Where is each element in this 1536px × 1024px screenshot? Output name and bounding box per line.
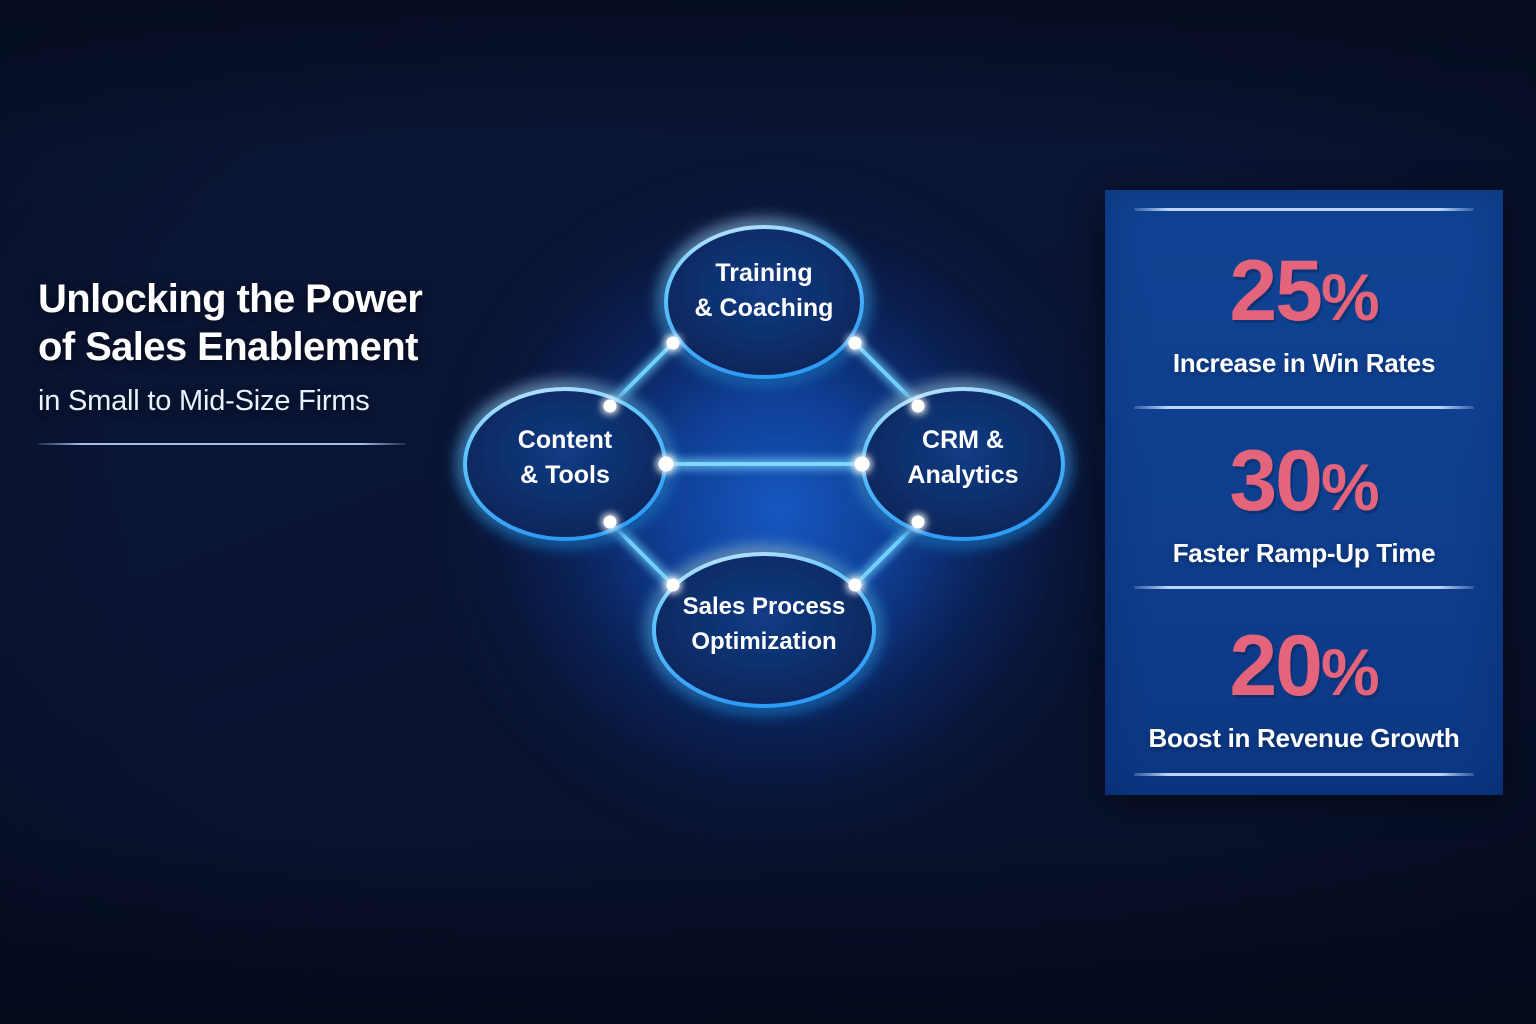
- stat-unit-revenue-growth: %: [1321, 635, 1379, 709]
- junction-dot-content-top: [604, 400, 617, 413]
- page-title-line-2: of Sales Enablement: [38, 323, 438, 371]
- node-content-label-2: & Tools: [520, 461, 610, 489]
- stat-item-revenue-growth: 20% Boost in Revenue Growth: [1105, 623, 1503, 753]
- key-results-panel: 25% Increase in Win Rates 30% Faster Ram…: [1105, 190, 1503, 795]
- node-training[interactable]: Training & Coaching: [666, 227, 862, 377]
- stat-value-revenue-growth: 20%: [1105, 623, 1503, 715]
- page-subtitle: in Small to Mid-Size Firms: [38, 381, 438, 421]
- panel-rule-bottom: [1134, 773, 1474, 776]
- sales-enablement-node-diagram: Training & Coaching Content & Tools CRM …: [430, 150, 1110, 770]
- stat-number-win-rates: 25: [1229, 243, 1321, 339]
- node-process[interactable]: Sales Process Optimization: [654, 554, 874, 706]
- stat-value-win-rates: 25%: [1105, 248, 1503, 340]
- node-process-label-1: Sales Process: [683, 593, 846, 620]
- junction-dot-training-right: [849, 337, 862, 350]
- stat-label-ramp-up: Faster Ramp-Up Time: [1105, 538, 1503, 568]
- junction-dot-process-left: [667, 579, 680, 592]
- node-crm[interactable]: CRM & Analytics: [863, 389, 1063, 539]
- node-crm-label-1: CRM &: [922, 426, 1004, 454]
- stat-item-ramp-up: 30% Faster Ramp-Up Time: [1105, 438, 1503, 568]
- panel-rule-top: [1134, 208, 1474, 211]
- connector-training-to-crm: [858, 346, 918, 406]
- node-content-label-1: Content: [518, 426, 613, 454]
- stat-item-win-rates: 25% Increase in Win Rates: [1105, 248, 1503, 378]
- stat-label-win-rates: Increase in Win Rates: [1105, 348, 1503, 378]
- node-process-label-2: Optimization: [691, 628, 836, 655]
- stat-value-ramp-up: 30%: [1105, 438, 1503, 530]
- panel-rule-2: [1134, 586, 1474, 589]
- node-content[interactable]: Content & Tools: [465, 389, 665, 539]
- junction-dot-training-left: [667, 337, 680, 350]
- stat-number-ramp-up: 30: [1229, 433, 1321, 529]
- page-title-line-1: Unlocking the Power: [38, 275, 438, 323]
- stat-label-revenue-growth: Boost in Revenue Growth: [1105, 723, 1503, 753]
- connector-process-to-crm: [858, 522, 918, 582]
- node-training-label-1: Training: [715, 259, 812, 287]
- title-divider-rule: [38, 443, 406, 445]
- junction-dot-crm-top: [912, 400, 925, 413]
- node-training-label-2: & Coaching: [695, 294, 834, 322]
- node-crm-label-2: Analytics: [907, 461, 1018, 489]
- junction-dot-crm-bottom: [912, 516, 925, 529]
- junction-dot-process-right: [849, 579, 862, 592]
- junction-dot-content-bottom: [604, 516, 617, 529]
- title-block: Unlocking the Power of Sales Enablement …: [38, 275, 438, 445]
- connector-content-to-process: [610, 522, 670, 582]
- junction-dot-center-left: [659, 457, 674, 472]
- stat-unit-win-rates: %: [1321, 260, 1379, 334]
- junction-dot-center-right: [855, 457, 870, 472]
- panel-rule-1: [1134, 406, 1474, 409]
- connector-content-to-training: [610, 346, 670, 406]
- diagram-nodes: Training & Coaching Content & Tools CRM …: [465, 227, 1063, 706]
- stat-number-revenue-growth: 20: [1229, 618, 1321, 714]
- infographic-canvas: Unlocking the Power of Sales Enablement …: [0, 0, 1536, 1024]
- stat-unit-ramp-up: %: [1321, 450, 1379, 524]
